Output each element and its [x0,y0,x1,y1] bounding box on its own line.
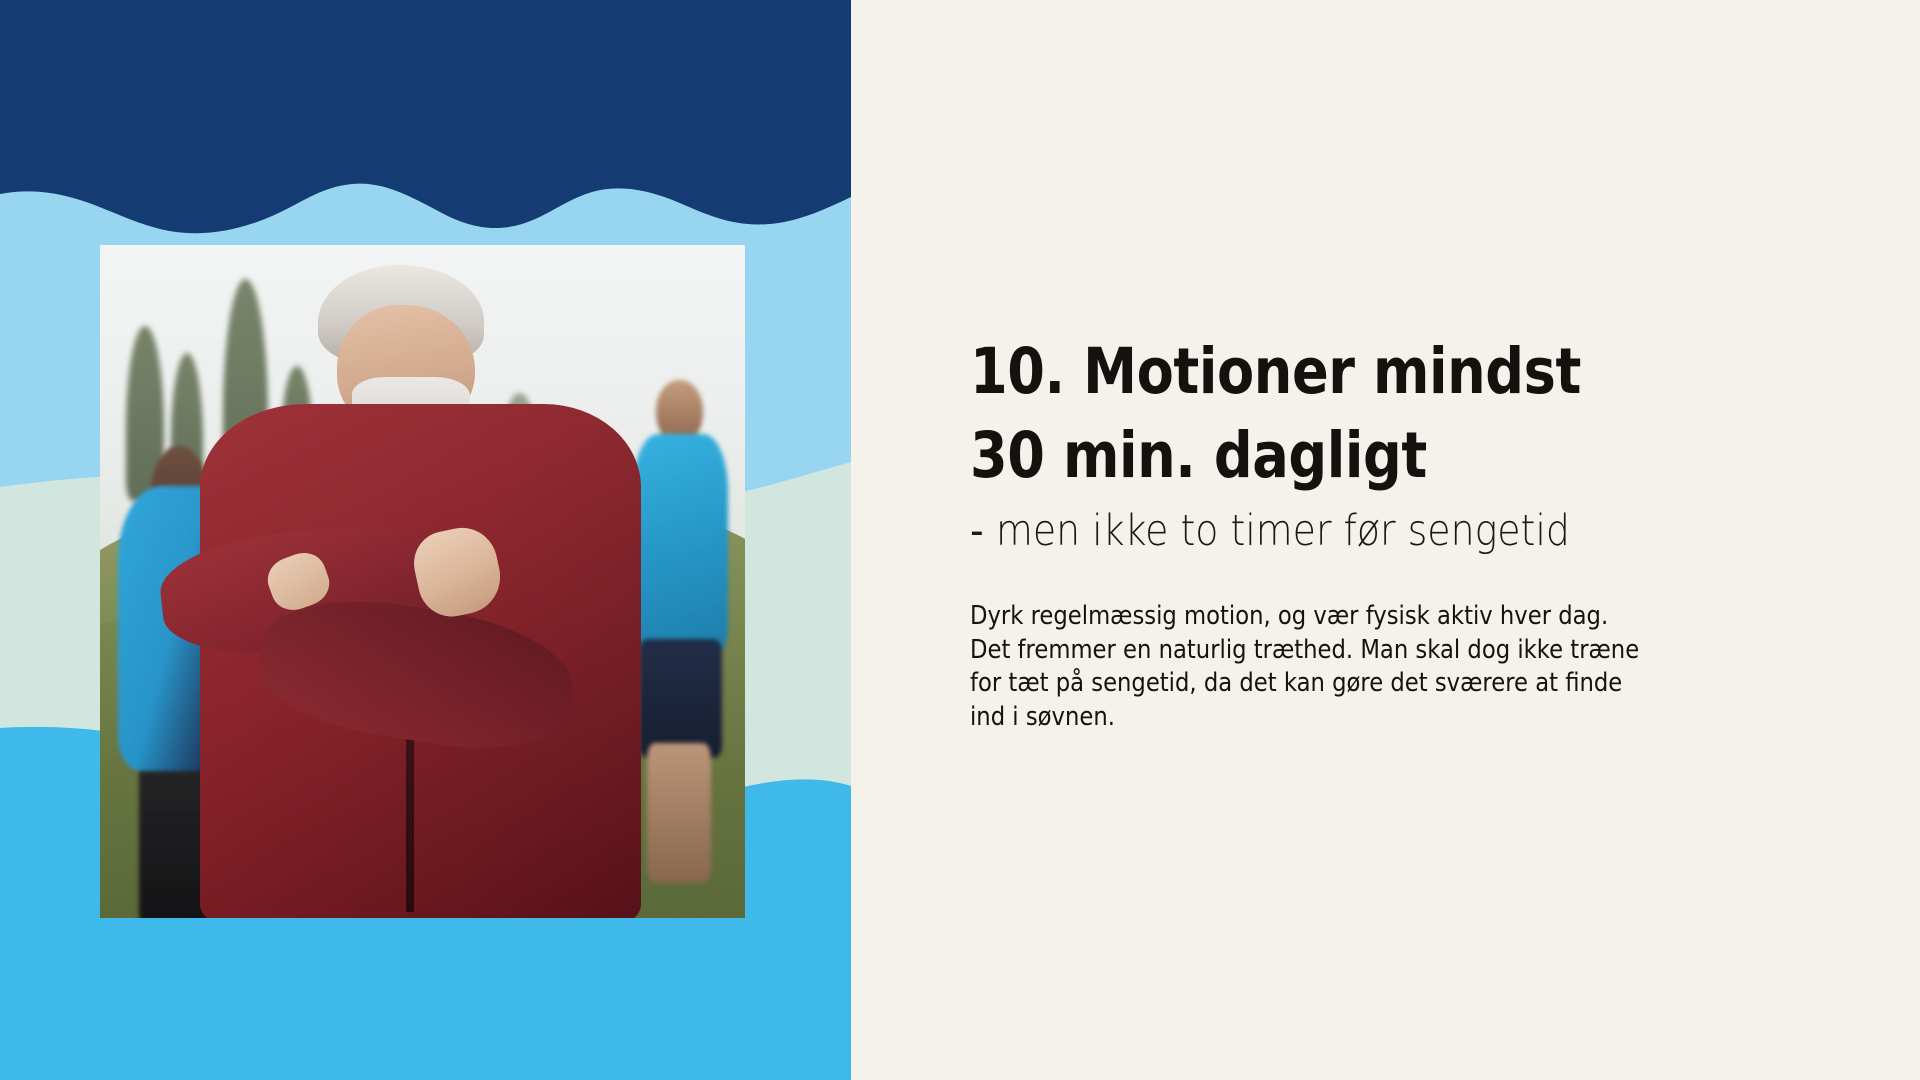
photo-foreground-man [190,265,680,918]
body-paragraph: Dyrk regelmæssig motion, og vær fysisk a… [970,600,1673,734]
photo-man-hoodie-zipper [406,714,414,912]
page-subtitle: men ikke to timer før sengetid [996,505,1570,557]
content-column: 10. Motioner mindst 30 min. dagligt - me… [970,0,1830,1080]
page-title: 10. Motioner mindst 30 min. dagligt [970,330,1581,498]
navy-wave-shape [0,0,851,233]
subtitle-row: - men ikke to timer før sengetid [970,505,1570,557]
slide-canvas: 10. Motioner mindst 30 min. dagligt - me… [0,0,1920,1080]
lifestyle-photo [100,245,745,918]
decorative-wave-panel [0,0,851,1080]
subtitle-dash: - [970,505,984,557]
